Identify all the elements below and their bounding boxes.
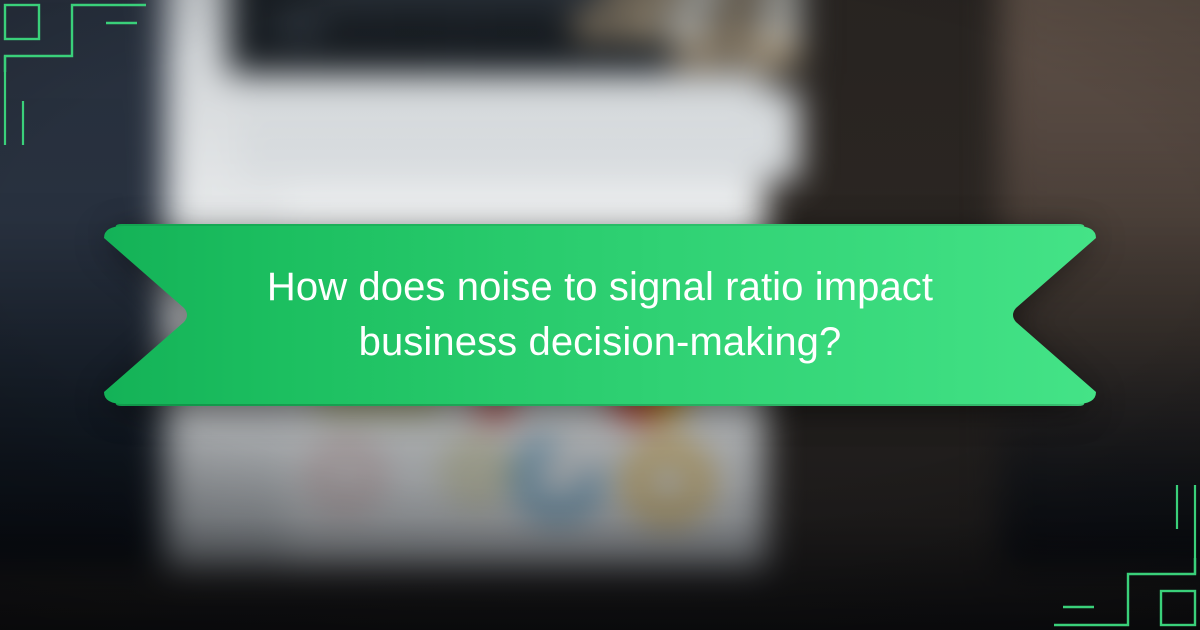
- headline-ribbon: How does noise to signal ratio impact bu…: [104, 224, 1096, 406]
- headline-line-2: business decision-making?: [359, 315, 842, 370]
- headline-line-1: How does noise to signal ratio impact: [267, 260, 933, 315]
- headline-text: How does noise to signal ratio impact bu…: [104, 224, 1096, 406]
- og-image-canvas: How does noise to signal ratio impact bu…: [0, 0, 1200, 630]
